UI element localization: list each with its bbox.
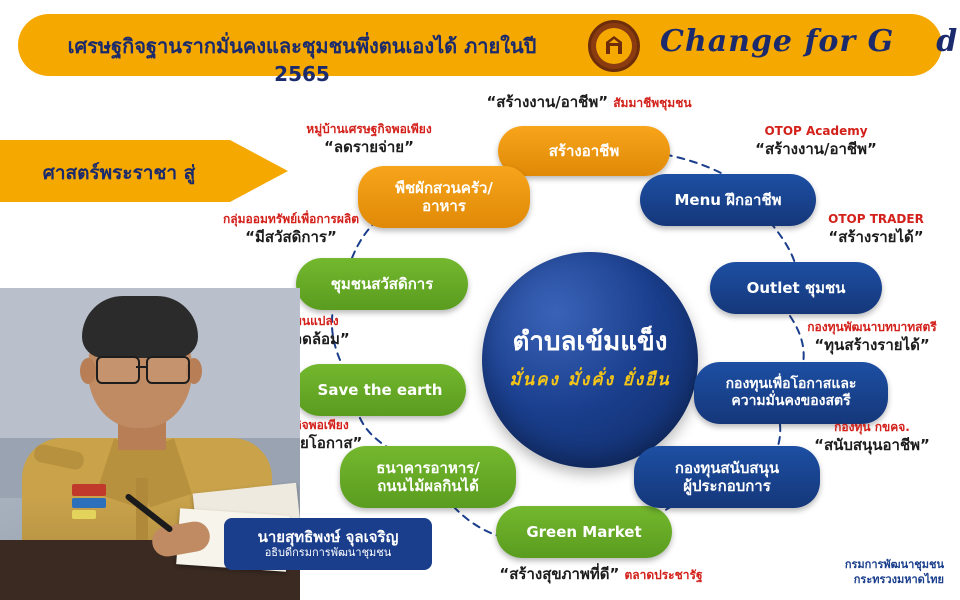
- node-label: ธนาคารอาหาร/ ถนนไม้ผลกินได้: [376, 459, 480, 495]
- node-entrepreneur-support-fund[interactable]: กองทุนสนับสนุน ผู้ประกอบการ: [634, 446, 820, 508]
- photo-ribbon-badge-blue: [72, 498, 106, 508]
- caption-quote: “สร้างงาน/อาชีพ”: [716, 140, 916, 160]
- footer-line-1: กรมการพัฒนาชุมชน: [845, 558, 944, 573]
- caption-women-development-fund: กองทุนพัฒนาบทบาทสตรี “ทุนสร้างรายได้”: [786, 320, 958, 355]
- node-label: ชุมชนสวัสดิการ: [331, 275, 434, 293]
- photo-ribbon-badge-yellow: [72, 510, 96, 519]
- caption-sufficiency-village-reduce-cost: หมู่บ้านเศรษฐกิจพอเพียง “ลดรายจ่าย”: [274, 122, 464, 157]
- caption-quote: “สร้างรายได้”: [796, 228, 956, 248]
- person-position: อธิบดีกรมการพัฒนาชุมชน: [224, 546, 432, 559]
- center-subtitle: มั่นคง มั่งคั่ง ยั่งยืน: [509, 366, 670, 393]
- caption-program: กองทุนพัฒนาบทบาทสตรี: [786, 320, 958, 336]
- center-title: ตำบลเข้มแข็ง: [513, 327, 668, 358]
- seal-inner-emblem: [596, 28, 632, 64]
- photo-ribbon-badge-red: [72, 484, 106, 496]
- caption-sammachip: “สร้างงาน/อาชีพ” สัมมาชีพชุมชน: [444, 92, 734, 113]
- caption-quote: “สร้างงาน/อาชีพ”: [486, 93, 608, 111]
- arrow-label: ศาสตร์พระราชา สู่: [14, 158, 224, 188]
- node-label: Save the earth: [318, 381, 443, 399]
- node-save-the-earth[interactable]: Save the earth: [294, 364, 466, 416]
- department-seal-icon: [588, 20, 640, 72]
- glasses-bridge: [136, 366, 146, 368]
- center-circle: ตำบลเข้มแข็ง มั่นคง มั่งคั่ง ยั่งยืน: [482, 252, 698, 468]
- node-community-welfare[interactable]: ชุมชนสวัสดิการ: [296, 258, 468, 310]
- footer-credits: กรมการพัฒนาชุมชน กระทรวงมหาดไทย: [845, 558, 944, 588]
- node-food-bank-fruit-road[interactable]: ธนาคารอาหาร/ ถนนไม้ผลกินได้: [340, 446, 516, 508]
- caption-program: กลุ่มออมทรัพย์เพื่อการผลิต: [186, 212, 396, 228]
- node-label: Green Market: [526, 523, 641, 541]
- caption-program: ตลาดประชารัฐ: [624, 568, 702, 582]
- caption-quote: “มีสวัสดิการ”: [186, 228, 396, 248]
- caption-quote: “ลดรายจ่าย”: [274, 138, 464, 158]
- caption-quote: “ทุนสร้างรายได้”: [786, 336, 958, 356]
- caption-otop-academy: OTOP Academy “สร้างงาน/อาชีพ”: [716, 124, 916, 159]
- node-label: กองทุนสนับสนุน ผู้ประกอบการ: [675, 459, 779, 495]
- node-label: พืชผักสวนครัว/ อาหาร: [395, 179, 493, 215]
- node-green-market[interactable]: Green Market: [496, 506, 672, 558]
- node-menu-vocational-training[interactable]: Menu ฝึกอาชีพ: [640, 174, 816, 226]
- page-title: เศรษฐกิจฐานรากมั่นคงและชุมชนพึ่งตนเองได้…: [42, 30, 562, 86]
- slogan-part-1: Change for G: [660, 24, 894, 59]
- caption-quote: “สนับสนุนอาชีพ”: [792, 436, 952, 456]
- node-label: กองทุนเพื่อโอกาสและ ความมั่นคงของสตรี: [726, 376, 857, 410]
- node-label: Outlet ชุมชน: [747, 279, 846, 297]
- arrow-banner: ศาสตร์พระราชา สู่: [0, 140, 290, 202]
- slogan-oo: oo: [894, 24, 936, 59]
- caption-program: OTOP Academy: [716, 124, 916, 140]
- node-sang-achip[interactable]: สร้างอาชีพ: [498, 126, 670, 176]
- node-outlet-community[interactable]: Outlet ชุมชน: [710, 262, 882, 314]
- person-name: นายสุทธิพงษ์ จุลเจริญ: [224, 529, 432, 546]
- name-plate: นายสุทธิพงษ์ จุลเจริญ อธิบดีกรมการพัฒนาช…: [224, 518, 432, 570]
- glasses-right-lens-icon: [146, 356, 190, 384]
- caption-kokhojo-fund: กองทุน กขคจ. “สนับสนุนอาชีพ”: [792, 420, 952, 455]
- slogan-part-2: d: [936, 24, 958, 59]
- footer-line-2: กระทรวงมหาดไทย: [845, 573, 944, 588]
- caption-otop-trader: OTOP TRADER “สร้างรายได้”: [796, 212, 956, 247]
- node-women-opportunity-fund[interactable]: กองทุนเพื่อโอกาสและ ความมั่นคงของสตรี: [694, 362, 888, 424]
- caption-savings-group: กลุ่มออมทรัพย์เพื่อการผลิต “มีสวัสดิการ”: [186, 212, 396, 247]
- caption-pracharat-market: “สร้างสุขภาพที่ดี” ตลาดประชารัฐ: [456, 564, 746, 585]
- caption-program: สัมมาชีพชุมชน: [613, 96, 691, 110]
- caption-program: OTOP TRADER: [796, 212, 956, 228]
- photo-ear-left: [80, 358, 96, 384]
- slogan-change-for-good: Change for Good: [660, 24, 958, 59]
- poster-canvas: เศรษฐกิจฐานรากมั่นคงและชุมชนพึ่งตนเองได้…: [0, 0, 960, 600]
- node-label: สร้างอาชีพ: [549, 142, 619, 160]
- node-label: Menu ฝึกอาชีพ: [674, 191, 781, 209]
- caption-program: กองทุน กขคจ.: [792, 420, 952, 436]
- caption-program: หมู่บ้านเศรษฐกิจพอเพียง: [274, 122, 464, 138]
- photo-hair: [82, 296, 198, 358]
- glasses-icon: [96, 356, 140, 384]
- caption-quote: “สร้างสุขภาพที่ดี”: [499, 565, 619, 583]
